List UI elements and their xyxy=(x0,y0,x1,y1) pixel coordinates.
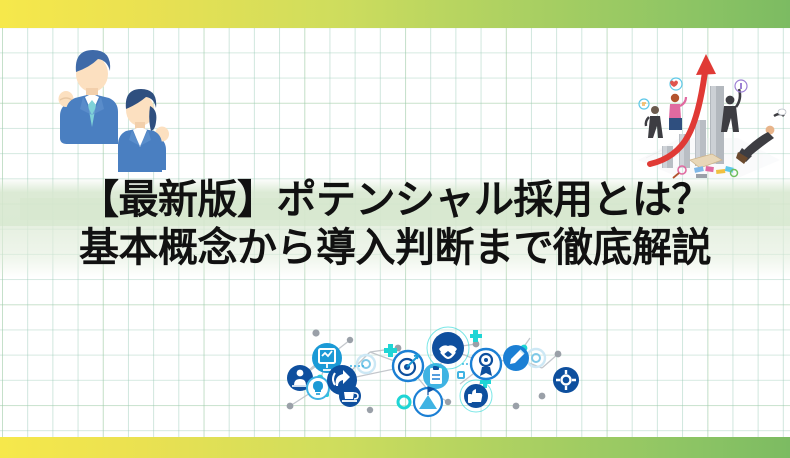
businessman-figure xyxy=(59,50,119,144)
page-title-line-2: 基本概念から導入判断まで徹底解説 xyxy=(0,224,790,272)
pencil-icon-node xyxy=(503,345,529,371)
two-business-people-illustration xyxy=(40,42,190,172)
growth-chart-illustration xyxy=(630,48,790,180)
target-icon-node xyxy=(393,351,423,381)
award-medal-icon-node xyxy=(471,349,501,379)
top-accent-bar xyxy=(0,0,790,28)
thumbs-up-icon-node xyxy=(460,380,492,412)
businesswoman-figure xyxy=(118,89,169,172)
coffee-cup-icon-node xyxy=(339,385,361,407)
business-network-illustration xyxy=(280,318,580,438)
bottom-accent-bar xyxy=(0,437,790,458)
mini-person-left xyxy=(639,99,663,138)
lightbulb-icon-node xyxy=(307,377,329,399)
mini-person-woman xyxy=(669,78,686,130)
clipboard-icon-node xyxy=(423,363,449,389)
page-title-line-1: 【最新版】ポテンシャル採用とは？ xyxy=(0,176,790,224)
gear-icon-node xyxy=(553,367,579,393)
mini-person-raised-arm xyxy=(721,80,747,132)
page-title: 【最新版】ポテンシャル採用とは？ 基本概念から導入判断まで徹底解説 xyxy=(0,176,790,272)
handshake-icon-node xyxy=(427,327,469,369)
article-thumbnail-banner: 【最新版】ポテンシャル採用とは？ 基本概念から導入判断まで徹底解説 xyxy=(0,0,790,458)
mountain-flag-icon-node xyxy=(414,387,442,416)
